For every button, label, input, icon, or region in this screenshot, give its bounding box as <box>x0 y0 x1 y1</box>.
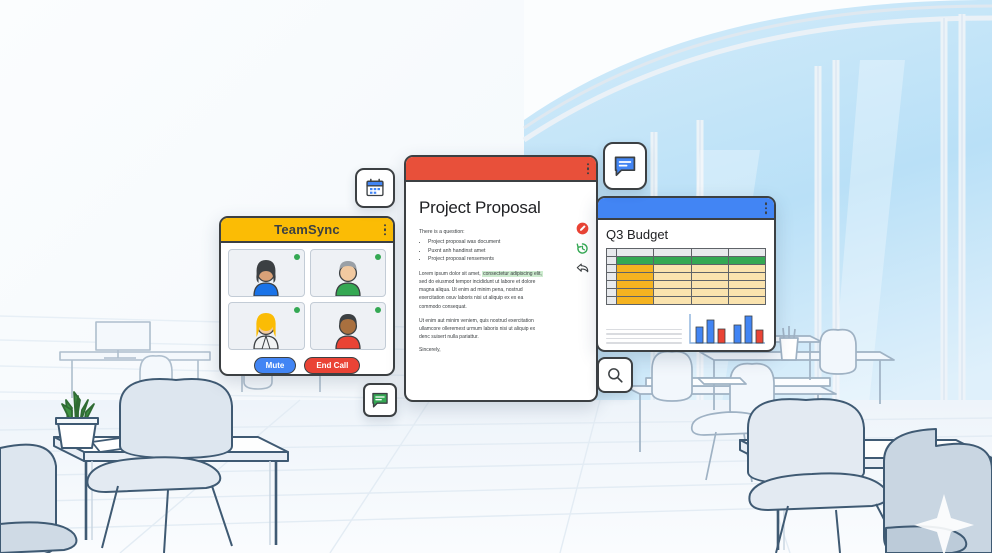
teamsync-title: TeamSync <box>274 222 340 237</box>
presence-dot-icon <box>375 307 381 313</box>
participant-tile-1[interactable] <box>228 249 305 297</box>
chat-bubble-icon <box>613 154 637 178</box>
table-row <box>607 273 766 281</box>
mute-button[interactable]: Mute <box>254 357 297 374</box>
presence-dot-icon <box>294 254 300 260</box>
document-paragraph-2: Ut enim aut minim veniem, quis nostrud e… <box>419 317 544 341</box>
highlighted-text: consectetur adipiscing elit, <box>482 271 543 277</box>
document-titlebar <box>406 157 596 182</box>
avatar-1 <box>249 254 283 296</box>
list-item: Puxnt anh handinst amet <box>428 248 584 254</box>
table-row <box>607 297 766 305</box>
more-vert-icon[interactable] <box>587 163 590 175</box>
para1-pre: Lorem ipsum dolor sit amet, <box>419 271 482 277</box>
spreadsheet-titlebar <box>598 198 774 220</box>
page-title: Project Proposal <box>419 198 584 218</box>
budget-table[interactable] <box>606 248 766 305</box>
call-actions: Mute End Call <box>228 357 386 374</box>
document-bullet-list: Project proposal was document Puxnt anh … <box>419 239 584 262</box>
table-row <box>607 289 766 297</box>
para1-post: sed do eiusmod tempor incididunt ut labo… <box>419 279 535 309</box>
table-row <box>607 257 766 265</box>
teamsync-window[interactable]: TeamSync <box>219 216 395 376</box>
version-history-icon[interactable] <box>576 242 589 255</box>
avatar-3 <box>249 307 283 349</box>
comment-chip[interactable] <box>363 383 397 417</box>
table-row <box>607 265 766 273</box>
scene-root: TeamSync <box>0 0 992 553</box>
comment-icon <box>371 391 389 409</box>
calendar-chip[interactable] <box>355 168 395 208</box>
participant-tile-4[interactable] <box>310 302 387 350</box>
end-call-button[interactable]: End Call <box>304 357 360 374</box>
list-item: Project proposal was document <box>428 239 584 245</box>
presence-dot-icon <box>375 254 381 260</box>
reply-arrow-icon[interactable] <box>576 262 589 274</box>
calendar-icon <box>365 178 385 198</box>
avatar-4 <box>331 307 365 349</box>
avatar-2 <box>331 254 365 296</box>
table-row <box>607 249 766 257</box>
spreadsheet-title: Q3 Budget <box>606 227 766 242</box>
document-tool-rail <box>576 222 589 274</box>
document-signoff: Sincerely, <box>419 347 584 353</box>
more-vert-icon[interactable] <box>765 202 768 214</box>
participant-tile-3[interactable] <box>228 302 305 350</box>
list-item: Project proposal rensements <box>428 256 584 262</box>
mini-bar-chart[interactable] <box>688 312 766 346</box>
search-chip[interactable] <box>597 357 633 393</box>
search-icon <box>606 366 624 384</box>
chat-chip[interactable] <box>603 142 647 190</box>
spreadsheet-window[interactable]: Q3 Budget <box>596 196 776 352</box>
more-vert-icon[interactable] <box>384 224 387 236</box>
sheet-placeholder-lines <box>606 329 682 346</box>
edit-pencil-icon[interactable] <box>576 222 589 235</box>
document-paragraph-1: Lorem ipsum dolor sit amet, consectetur … <box>419 270 544 310</box>
table-row <box>607 281 766 289</box>
document-lead: There is a question: <box>419 229 584 235</box>
participant-tile-2[interactable] <box>310 249 387 297</box>
presence-dot-icon <box>294 307 300 313</box>
participant-grid <box>228 249 386 350</box>
document-window[interactable]: Project Proposal There is a question: Pr… <box>404 155 598 402</box>
teamsync-titlebar: TeamSync <box>221 218 393 243</box>
